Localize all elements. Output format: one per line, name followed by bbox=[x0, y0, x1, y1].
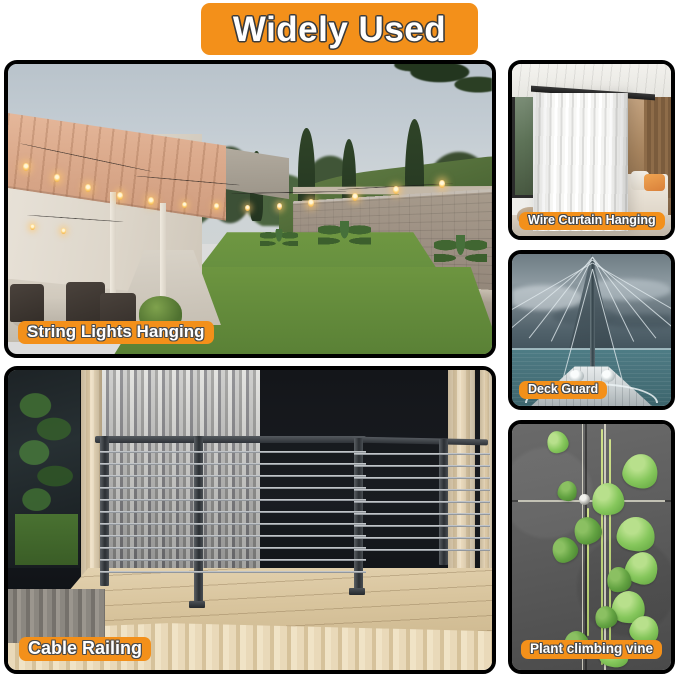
badge-label: Plant climbing vine bbox=[530, 642, 653, 656]
light-bulb bbox=[308, 199, 314, 207]
patio-chair bbox=[10, 284, 44, 322]
railing-cable bbox=[100, 559, 366, 561]
wire-anchor bbox=[579, 494, 590, 505]
badge-label: Deck Guard bbox=[528, 383, 598, 396]
panel-string-lights: String Lights Hanging bbox=[4, 60, 496, 358]
railing-cable bbox=[100, 511, 366, 513]
railing-cable bbox=[100, 535, 366, 537]
railing-post bbox=[194, 436, 203, 604]
photo-backyard-string-lights bbox=[8, 64, 492, 354]
railing-cable bbox=[354, 501, 490, 503]
badge-wire-curtain-hanging: Wire Curtain Hanging bbox=[519, 212, 665, 230]
panel-plant-climbing-vine: Plant climbing vine bbox=[508, 420, 675, 674]
winch bbox=[569, 370, 583, 382]
light-bulb bbox=[393, 186, 399, 194]
light-bulb bbox=[30, 224, 35, 231]
railing-cable bbox=[100, 571, 366, 573]
panel-deck-guard: Deck Guard bbox=[508, 250, 675, 410]
railing-cable bbox=[354, 489, 490, 491]
reflected-lawn bbox=[15, 514, 78, 565]
foreground-branch bbox=[318, 60, 492, 128]
photo-climbing-vine bbox=[512, 424, 671, 670]
badge-label: String Lights Hanging bbox=[27, 323, 205, 341]
photo-cable-railing-deck bbox=[8, 370, 492, 670]
railing-top-rail bbox=[95, 436, 366, 443]
railing-post-base bbox=[349, 588, 365, 595]
railing-cable bbox=[354, 549, 490, 551]
wood-column bbox=[81, 370, 102, 592]
light-bulb bbox=[439, 180, 445, 188]
palm-plant bbox=[318, 221, 371, 262]
palm-plant bbox=[434, 235, 487, 281]
page-title: Widely Used bbox=[233, 12, 446, 47]
orange-pillow bbox=[644, 174, 665, 191]
deck-fascia-left bbox=[8, 589, 105, 643]
railing-cable bbox=[354, 453, 490, 455]
railing-cable bbox=[100, 499, 366, 501]
panel-wire-curtain: Wire Curtain Hanging bbox=[508, 60, 675, 240]
railing-cable bbox=[100, 487, 366, 489]
photo-wire-curtain bbox=[512, 64, 671, 236]
railing-cable bbox=[100, 547, 366, 549]
light-bulb bbox=[23, 163, 29, 171]
railing-cable bbox=[100, 475, 366, 477]
railing-post-base bbox=[189, 601, 205, 608]
badge-label: Cable Railing bbox=[28, 639, 142, 658]
badge-string-lights-hanging: String Lights Hanging bbox=[18, 321, 214, 344]
badge-deck-guard: Deck Guard bbox=[519, 381, 607, 399]
railing-cable bbox=[354, 537, 490, 539]
railing-cable bbox=[100, 451, 366, 453]
light-bulb bbox=[214, 203, 219, 210]
railing-cable bbox=[100, 463, 366, 465]
palm-plant bbox=[260, 229, 299, 258]
pergola-post bbox=[110, 192, 117, 296]
railing-cable bbox=[354, 513, 490, 515]
wood-column bbox=[448, 370, 474, 592]
light-bulb bbox=[352, 193, 358, 201]
railing-cable bbox=[100, 523, 366, 525]
trellis-wire bbox=[604, 424, 605, 670]
page-title-banner: Widely Used bbox=[201, 3, 478, 55]
light-bulb bbox=[117, 192, 123, 200]
badge-cable-railing: Cable Railing bbox=[19, 637, 151, 661]
vine-stem bbox=[601, 429, 603, 665]
badge-label: Wire Curtain Hanging bbox=[528, 214, 656, 227]
pleated-curtain bbox=[533, 93, 628, 231]
infographic-page: Widely Used bbox=[0, 0, 679, 678]
wood-column bbox=[480, 370, 492, 592]
winch bbox=[601, 370, 615, 382]
light-bulb bbox=[277, 203, 282, 210]
badge-plant-climbing-vine: Plant climbing vine bbox=[521, 640, 662, 659]
railing-cable bbox=[354, 477, 490, 479]
pergola-post bbox=[160, 203, 166, 296]
railing-cable bbox=[354, 465, 490, 467]
railing-cable bbox=[354, 525, 490, 527]
panel-cable-railing: Cable Railing bbox=[4, 366, 496, 674]
patio-chair bbox=[66, 282, 105, 326]
